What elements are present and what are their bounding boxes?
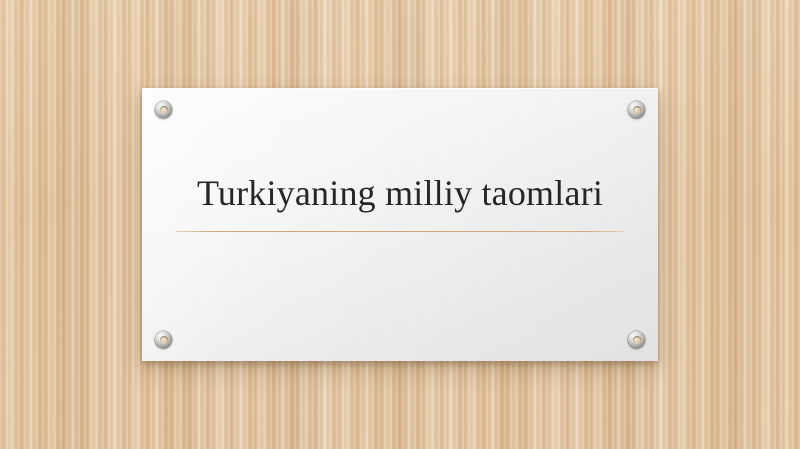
title-block: Turkiyaning milliy taomlari <box>176 172 624 232</box>
screw-icon-top-left <box>155 101 172 118</box>
title-panel: Turkiyaning milliy taomlari <box>142 88 658 361</box>
screw-icon-bottom-right <box>628 331 645 348</box>
screw-icon-bottom-left <box>155 331 172 348</box>
title-divider <box>176 231 624 232</box>
page-title: Turkiyaning milliy taomlari <box>176 172 624 216</box>
screw-icon-top-right <box>628 101 645 118</box>
slide-stage: Turkiyaning milliy taomlari <box>0 0 800 449</box>
